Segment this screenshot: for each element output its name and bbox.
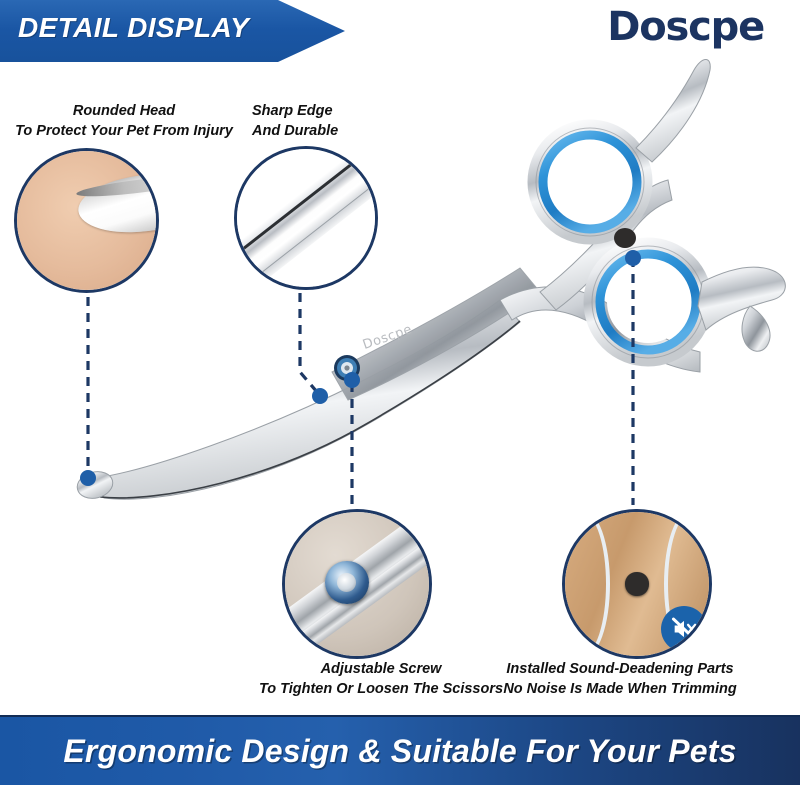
callout-line1: Rounded Head [0, 101, 248, 121]
detail-circle-rounded-head [14, 148, 159, 293]
detail-circle-adjustable-screw [282, 509, 432, 659]
mute-icon [661, 606, 707, 652]
tagline-text: Ergonomic Design & Suitable For Your Pet… [63, 733, 736, 770]
callout-line1: Installed Sound-Deadening Parts [470, 659, 770, 679]
callout-line2: And Durable [252, 121, 412, 141]
tagline-banner: Ergonomic Design & Suitable For Your Pet… [0, 715, 800, 785]
detail-circle-sound-deadening [562, 509, 712, 659]
callout-label-rounded-head: Rounded Head To Protect Your Pet From In… [0, 101, 248, 141]
detail-circle-sharp-edge [234, 146, 378, 290]
callout-label-sound-deadening: Installed Sound-Deadening Parts No Noise… [470, 659, 770, 699]
callout-line2: No Noise Is Made When Trimming [470, 679, 770, 699]
sound-deadening-bumper [625, 572, 648, 595]
callout-line2: To Protect Your Pet From Injury [0, 121, 248, 141]
detail-display-page: DETAIL DISPLAY Doscpe [0, 0, 800, 785]
handle-arc-left [562, 509, 621, 659]
screw-head [325, 561, 368, 604]
callout-label-sharp-edge: Sharp Edge And Durable [252, 101, 412, 141]
callout-line1: Sharp Edge [252, 101, 412, 121]
